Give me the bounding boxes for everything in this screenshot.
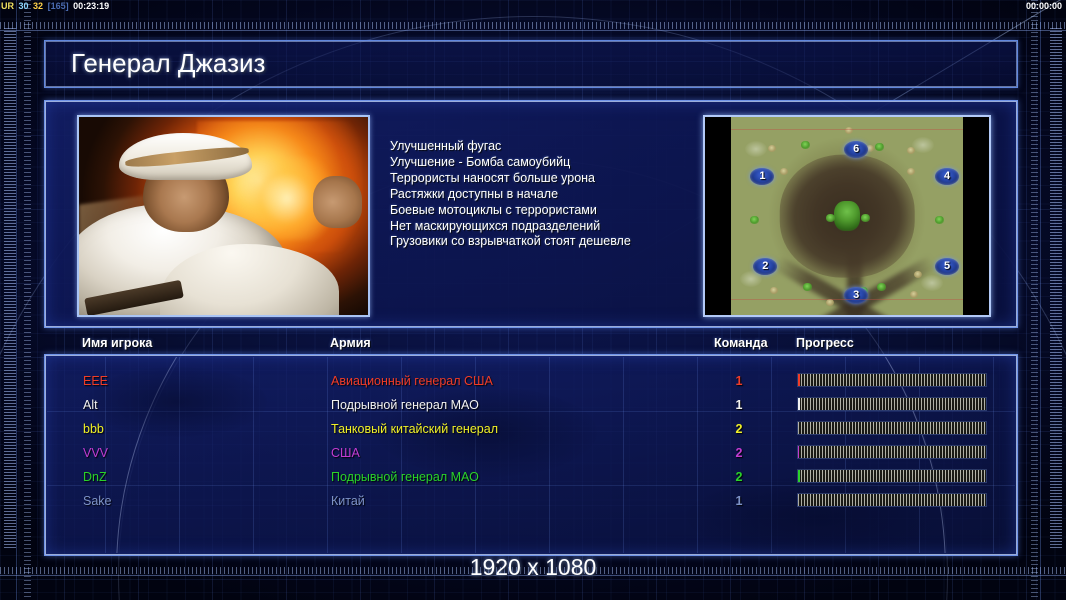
minimap-vegetation: [875, 143, 884, 151]
player-name: Alt: [83, 393, 98, 417]
guide-line-left: [16, 0, 17, 600]
minimap-letterbox-right: [963, 117, 989, 315]
table-row[interactable]: EEEАвиационный генерал США1: [47, 369, 1015, 393]
minimap-rock: [907, 147, 915, 154]
title-panel: Генерал Джазиз: [44, 40, 1018, 88]
minimap-haze: [912, 137, 934, 153]
guide-line-right: [1040, 0, 1041, 600]
general-description-list: Улучшенный фугас Улучшение - Бомба самоу…: [390, 139, 720, 250]
hud-value-2: 32: [33, 1, 43, 11]
description-line: Растяжки доступны в начале: [390, 187, 720, 203]
ruler-strip-top: [0, 22, 1066, 29]
minimap-start-position-5[interactable]: 5: [935, 258, 959, 275]
progress-bar-track: [798, 398, 986, 410]
minimap-rock: [770, 287, 778, 294]
ruler-strip-left: [24, 0, 31, 600]
hud-debug-readout: UR 30 32 [165] 00:23:19: [1, 1, 111, 12]
portrait-hand: [313, 176, 362, 227]
page-title: Генерал Джазиз: [71, 48, 265, 79]
minimap-haze: [745, 141, 767, 157]
minimap-rock: [914, 271, 922, 278]
progress-bar-fill: [798, 446, 799, 458]
player-army: Авиационный генерал США: [331, 369, 493, 393]
description-line: Улучшение - Бомба самоубийц: [390, 155, 720, 171]
minimap-start-position-6[interactable]: 6: [844, 141, 868, 158]
progress-bar-fill: [798, 398, 800, 410]
progress-bar-track: [798, 422, 986, 434]
player-name: Sake: [83, 489, 112, 513]
minimap-preview[interactable]: 123456: [703, 115, 991, 317]
player-team: 1: [724, 489, 754, 513]
minimap-vegetation: [801, 141, 810, 149]
progress-bar: [797, 445, 987, 459]
ruler-strip-right: [1031, 0, 1038, 600]
hud-bracket: [165]: [48, 1, 69, 11]
player-army: Подрывной генерал МАО: [331, 465, 479, 489]
game-lobby-screen: UR 30 32 [165] 00:23:19 00:00:00 Генерал…: [0, 0, 1066, 600]
table-row[interactable]: bbbТанковый китайский генерал2: [47, 417, 1015, 441]
player-team: 2: [724, 441, 754, 465]
hud-right-clock: 00:00:00: [1026, 1, 1062, 12]
minimap-boundary-line: [731, 299, 963, 300]
column-header-army: Армия: [330, 336, 371, 350]
player-name: DnZ: [83, 465, 107, 489]
progress-bar: [797, 373, 987, 387]
progress-bar-track: [798, 374, 986, 386]
minimap-boundary-line: [731, 129, 963, 130]
tick-cluster-left: [4, 28, 16, 548]
player-team: 1: [724, 393, 754, 417]
minimap-rock: [826, 299, 834, 306]
player-name: bbb: [83, 417, 104, 441]
minimap-rock: [768, 145, 776, 152]
minimap-vegetation: [935, 216, 944, 224]
minimap-vegetation: [861, 214, 870, 222]
progress-bar-fill: [798, 470, 800, 482]
progress-bar: [797, 469, 987, 483]
minimap-rock: [907, 168, 915, 175]
description-line: Нет маскирующихся подразделений: [390, 219, 720, 235]
column-header-team: Команда: [714, 336, 768, 350]
minimap-letterbox-left: [705, 117, 731, 315]
table-row[interactable]: DnZПодрывной генерал МАО2: [47, 465, 1015, 489]
player-army: Танковый китайский генерал: [331, 417, 498, 441]
player-team: 2: [724, 465, 754, 489]
player-table-header: Имя игрока Армия Команда Прогресс: [44, 336, 1018, 354]
table-row[interactable]: SakeКитай1: [47, 489, 1015, 513]
description-line: Грузовики со взрывчаткой стоят дешевле: [390, 234, 720, 250]
progress-bar-fill: [798, 374, 800, 386]
hud-clock: 00:23:19: [73, 1, 109, 11]
hud-value-1: 30: [19, 1, 29, 11]
hud-label: UR: [1, 1, 14, 11]
progress-bar-track: [798, 470, 986, 482]
table-row[interactable]: AltПодрывной генерал МАО1: [47, 393, 1015, 417]
description-line: Улучшенный фугас: [390, 139, 720, 155]
progress-bar-track: [798, 446, 986, 458]
table-row[interactable]: VVVСША2: [47, 441, 1015, 465]
minimap-haze: [921, 275, 943, 291]
description-line: Боевые мотоциклы с террористами: [390, 203, 720, 219]
player-team: 1: [724, 369, 754, 393]
minimap-vegetation: [750, 216, 759, 224]
player-name: VVV: [83, 441, 108, 465]
column-header-player: Имя игрока: [82, 336, 152, 350]
general-portrait: [77, 115, 370, 317]
progress-bar: [797, 493, 987, 507]
minimap-rock: [910, 291, 918, 298]
column-header-progress: Прогресс: [796, 336, 854, 350]
player-list-panel: EEEАвиационный генерал США1AltПодрывной …: [44, 354, 1018, 556]
minimap-vegetation: [826, 214, 835, 222]
tick-cluster-right: [1050, 28, 1062, 548]
player-army: США: [331, 441, 360, 465]
progress-bar: [797, 421, 987, 435]
minimap-road: [851, 301, 937, 317]
progress-bar: [797, 397, 987, 411]
minimap-start-position-2[interactable]: 2: [753, 258, 777, 275]
progress-bar-track: [798, 494, 986, 506]
minimap-vegetation: [803, 283, 812, 291]
minimap-center-vegetation: [834, 201, 860, 231]
player-army: Китай: [331, 489, 365, 513]
player-army: Подрывной генерал МАО: [331, 393, 479, 417]
description-line: Террористы наносят больше урона: [390, 171, 720, 187]
general-info-panel: Улучшенный фугас Улучшение - Бомба самоу…: [44, 100, 1018, 328]
resolution-label: 1920 x 1080: [0, 554, 1066, 581]
player-name: EEE: [83, 369, 108, 393]
player-team: 2: [724, 417, 754, 441]
top-status-bar: UR 30 32 [165] 00:23:19 00:00:00: [0, 0, 1066, 20]
minimap-rock: [780, 168, 788, 175]
